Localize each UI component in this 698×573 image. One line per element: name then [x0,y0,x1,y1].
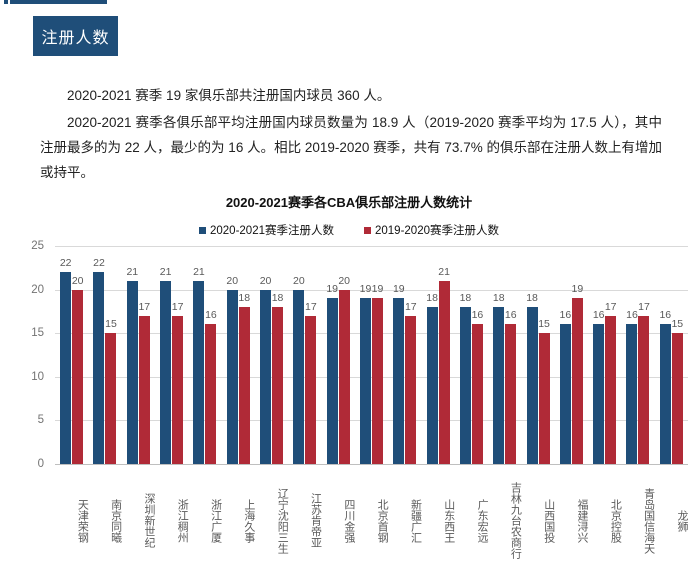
section-badge-label: 注册人数 [41,24,109,48]
bar-value-label: 20 [338,275,350,287]
bar-value-label: 17 [172,301,184,313]
legend-label-series-1: 2020-2021赛季注册人数 [210,222,334,238]
legend-item-series-2: 2019-2020赛季注册人数 [364,222,499,238]
bar-value-label: 20 [260,275,272,287]
bar-series-2[interactable]: 16 [505,324,516,464]
bar-series-1[interactable]: 16 [626,324,637,464]
x-axis-label: 北京首钢 [355,468,388,573]
chart-title: 2020-2021赛季各CBA俱乐部注册人数统计 [0,190,698,211]
bar-value-label: 22 [60,257,72,269]
bar-chart: 2020-2021赛季各CBA俱乐部注册人数统计 2020-2021赛季注册人数… [0,190,698,566]
top-clipped-bullet-icon [4,0,8,4]
bar-value-label: 19 [372,283,384,295]
bar-group[interactable]: 2017 [288,246,321,464]
bar-series-2[interactable]: 17 [305,316,316,464]
bar-value-label: 18 [426,292,438,304]
bar-value-label: 19 [393,283,405,295]
bar-series-2[interactable]: 17 [139,316,150,464]
bar-group[interactable]: 1816 [455,246,488,464]
x-axis-label: 广东宏远 [455,468,488,573]
bar-series-1[interactable]: 21 [160,281,171,464]
bar-series-2[interactable]: 19 [372,298,383,464]
plot-area: 0510152025 22202215211721172116201820182… [0,246,698,478]
bar-value-label: 15 [538,318,550,330]
bar-group[interactable]: 2117 [122,246,155,464]
bar-series-1[interactable]: 21 [193,281,204,464]
x-axis-label: 浙江稠州 [155,468,188,573]
bar-series-2[interactable]: 16 [472,324,483,464]
section-badge: 注册人数 [33,16,118,56]
x-axis-label: 山东西王 [421,468,454,573]
bar-group[interactable]: 1917 [388,246,421,464]
y-axis-tick-label: 10 [31,371,44,383]
y-axis-tick-label: 5 [38,414,44,426]
bar-value-label: 15 [671,318,683,330]
x-axis-label: 山西国投 [521,468,554,573]
bar-value-label: 18 [460,292,472,304]
bar-series-1[interactable]: 18 [527,307,538,464]
x-axis-label: 四川金强 [322,468,355,573]
bar-value-label: 20 [72,275,84,287]
bar-value-label: 16 [205,309,217,321]
x-axis-label: 南京同曦 [88,468,121,573]
legend-label-series-2: 2019-2020赛季注册人数 [375,222,499,238]
x-axis-label: 吉林九台农商行 [488,468,521,573]
legend-swatch-series-1 [199,227,206,234]
bar-series-2[interactable]: 17 [638,316,649,464]
chart-legend: 2020-2021赛季注册人数 2019-2020赛季注册人数 [0,222,698,238]
bar-value-label: 18 [526,292,538,304]
bar-value-label: 21 [193,266,205,278]
x-axis-labels: 天津荣钢南京同曦深圳新世纪浙江稠州浙江广厦上海久事辽宁沈阳三生江苏肯帝亚四川金强… [55,468,688,573]
bar-value-label: 16 [472,309,484,321]
bar-series-1[interactable]: 18 [427,307,438,464]
bar-value-label: 21 [438,266,450,278]
bar-value-label: 17 [138,301,150,313]
y-axis-tick-label: 15 [31,327,44,339]
bar-series-1[interactable]: 19 [393,298,404,464]
bar-series-1[interactable]: 18 [493,307,504,464]
bar-value-label: 19 [572,283,584,295]
y-axis: 0510152025 [0,246,50,464]
x-axis-label: 江苏肯帝亚 [288,468,321,573]
bar-group[interactable]: 1615 [655,246,688,464]
bar-groups: 2220221521172117211620182018201719201919… [55,246,688,464]
bar-series-2[interactable]: 16 [205,324,216,464]
bar-group[interactable]: 2117 [155,246,188,464]
bar-value-label: 16 [626,309,638,321]
bar-series-1[interactable]: 19 [327,298,338,464]
bar-series-1[interactable]: 22 [93,272,104,464]
y-axis-tick-label: 0 [38,458,44,470]
bar-value-label: 22 [93,257,105,269]
bar-value-label: 17 [605,301,617,313]
bar-series-2[interactable]: 20 [339,290,350,464]
x-axis-label: 深圳新世纪 [122,468,155,573]
gridline [55,464,688,465]
bar-value-label: 16 [659,309,671,321]
bar-group[interactable]: 2018 [255,246,288,464]
bar-group[interactable]: 1919 [355,246,388,464]
x-axis-label: 龙狮 [655,468,688,573]
bar-group[interactable]: 1617 [588,246,621,464]
bar-value-label: 17 [405,301,417,313]
bar-series-1[interactable]: 20 [293,290,304,464]
x-axis-label: 浙江广厦 [188,468,221,573]
bar-series-1[interactable]: 16 [660,324,671,464]
page-root: 注册人数 2020-2021 赛季 19 家俱乐部共注册国内球员 360 人。 … [0,0,698,566]
bar-value-label: 21 [126,266,138,278]
bar-value-label: 18 [238,292,250,304]
top-clipped-bar [10,0,107,4]
bar-value-label: 18 [272,292,284,304]
bar-value-label: 20 [293,275,305,287]
bar-series-1[interactable]: 16 [560,324,571,464]
bar-series-1[interactable]: 20 [260,290,271,464]
bar-value-label: 19 [360,283,372,295]
paragraph-1: 2020-2021 赛季 19 家俱乐部共注册国内球员 360 人。 [40,83,662,108]
bar-group[interactable]: 1816 [488,246,521,464]
bar-series-2[interactable]: 18 [239,307,250,464]
bar-series-2[interactable]: 15 [105,333,116,464]
bar-value-label: 21 [160,266,172,278]
bar-series-2[interactable]: 17 [405,316,416,464]
bar-value-label: 19 [326,283,338,295]
bar-value-label: 20 [226,275,238,287]
body-copy: 2020-2021 赛季 19 家俱乐部共注册国内球员 360 人。 2020-… [40,83,662,187]
x-axis-label: 辽宁沈阳三生 [255,468,288,573]
bar-series-2[interactable]: 15 [539,333,550,464]
bar-group[interactable]: 2116 [188,246,221,464]
bar-series-1[interactable]: 16 [593,324,604,464]
bar-value-label: 15 [105,318,117,330]
legend-item-series-1: 2020-2021赛季注册人数 [199,222,334,238]
bar-series-1[interactable]: 21 [127,281,138,464]
bar-group[interactable]: 1920 [322,246,355,464]
x-axis-label: 北京控股 [588,468,621,573]
bar-group[interactable]: 2220 [55,246,88,464]
bar-value-label: 17 [305,301,317,313]
bar-series-1[interactable]: 22 [60,272,71,464]
bar-series-1[interactable]: 20 [227,290,238,464]
x-axis-label: 新疆广汇 [388,468,421,573]
bar-group[interactable]: 1815 [521,246,554,464]
bar-value-label: 16 [505,309,517,321]
y-axis-tick-label: 20 [31,284,44,296]
bar-value-label: 16 [560,309,572,321]
x-axis-label: 天津荣钢 [55,468,88,573]
bar-value-label: 17 [638,301,650,313]
bar-group[interactable]: 2215 [88,246,121,464]
bar-group[interactable]: 1619 [555,246,588,464]
bar-series-2[interactable]: 21 [439,281,450,464]
bar-series-2[interactable]: 18 [272,307,283,464]
bar-series-2[interactable]: 15 [672,333,683,464]
bar-series-2[interactable]: 19 [572,298,583,464]
legend-swatch-series-2 [364,227,371,234]
bar-series-1[interactable]: 18 [460,307,471,464]
bar-group[interactable]: 1617 [621,246,654,464]
bar-group[interactable]: 2018 [222,246,255,464]
bar-value-label: 16 [593,309,605,321]
paragraph-2: 2020-2021 赛季各俱乐部平均注册国内球员数量为 18.9 人（2019-… [40,110,662,185]
y-axis-tick-label: 25 [31,240,44,252]
bar-group[interactable]: 1821 [421,246,454,464]
bar-series-2[interactable]: 17 [172,316,183,464]
bar-series-2[interactable]: 17 [605,316,616,464]
bar-series-2[interactable]: 20 [72,290,83,464]
x-axis-label: 上海久事 [222,468,255,573]
bar-series-1[interactable]: 19 [360,298,371,464]
x-axis-label: 青岛国信海天 [621,468,654,573]
bar-value-label: 18 [493,292,505,304]
x-axis-label: 福建浔兴 [555,468,588,573]
